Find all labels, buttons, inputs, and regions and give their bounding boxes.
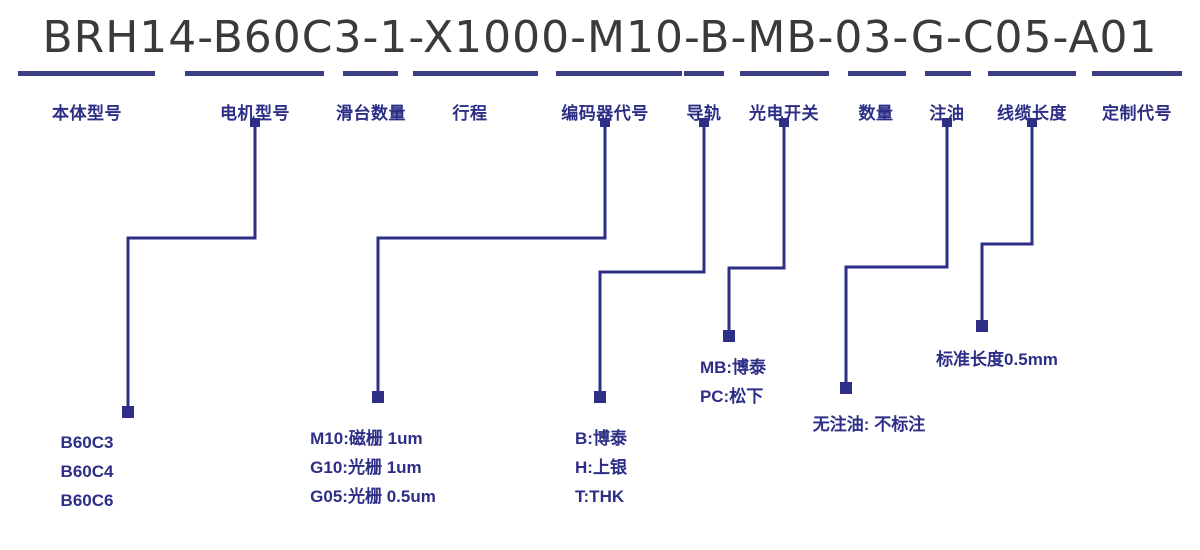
callout-line: B:博泰 xyxy=(575,424,627,453)
leader-terminal-encoder_options xyxy=(372,391,384,403)
callout-lubrication_note: 无注油: 不标注 xyxy=(813,410,925,439)
underline-body_model xyxy=(18,71,155,76)
field-label-photo_switch: 光电开关 xyxy=(749,99,819,124)
underline-motor_model xyxy=(185,71,324,76)
field-label-motor_model: 电机型号 xyxy=(220,99,290,124)
leader-terminal-cable_length_note xyxy=(976,320,988,332)
leader-terminal-photo_switch_options xyxy=(723,330,735,342)
underline-custom_code xyxy=(1092,71,1182,76)
field-label-body_model: 本体型号 xyxy=(52,99,122,124)
leader-line-encoder_options xyxy=(378,122,605,397)
callout-line: B60C6 xyxy=(61,486,114,515)
callout-line: MB:博泰 xyxy=(700,353,766,382)
leader-line-cable_length_note xyxy=(982,122,1032,326)
field-label-encoder_code: 编码器代号 xyxy=(561,99,649,124)
field-label-guide_rail: 导轨 xyxy=(687,99,722,124)
callout-line: G05:光栅 0.5um xyxy=(310,482,436,511)
callout-line: G10:光栅 1um xyxy=(310,453,436,482)
leader-terminal-lubrication_note xyxy=(840,382,852,394)
callout-photo_switch_options: MB:博泰PC:松下 xyxy=(700,353,766,411)
underline-stroke xyxy=(413,71,538,76)
leader-terminal-body_model_options xyxy=(122,406,134,418)
underline-guide_rail xyxy=(684,71,724,76)
leader-terminal-guide_rail_options xyxy=(594,391,606,403)
leader-line-photo_switch_options xyxy=(729,122,784,336)
leader-line-guide_rail_options xyxy=(600,122,704,397)
field-label-stroke: 行程 xyxy=(453,99,488,124)
field-label-custom_code: 定制代号 xyxy=(1102,99,1172,124)
callout-guide_rail_options: B:博泰H:上银T:THK xyxy=(575,424,627,511)
model-number-breakdown-diagram: BRH14-B60C3-1-X1000-M10-B-MB-03-G-C05-A0… xyxy=(0,0,1200,550)
callout-encoder_options: M10:磁栅 1umG10:光栅 1umG05:光栅 0.5um xyxy=(310,424,436,511)
underline-slide_count xyxy=(343,71,398,76)
field-label-quantity: 数量 xyxy=(859,99,894,124)
underline-quantity xyxy=(848,71,906,76)
callout-line: B60C4 xyxy=(61,457,114,486)
field-label-cable_length: 线缆长度 xyxy=(997,99,1067,124)
field-label-slide_count: 滑台数量 xyxy=(336,99,406,124)
model-code-title: BRH14-B60C3-1-X1000-M10-B-MB-03-G-C05-A0… xyxy=(0,12,1200,63)
callout-line: H:上银 xyxy=(575,453,627,482)
callout-line: B60C3 xyxy=(61,428,114,457)
callout-cable_length_note: 标准长度0.5mm xyxy=(936,345,1058,374)
underline-lubrication xyxy=(925,71,971,76)
callout-line: 标准长度0.5mm xyxy=(936,345,1058,374)
leader-line-lubrication_note xyxy=(846,122,947,388)
callout-line: M10:磁栅 1um xyxy=(310,424,436,453)
callout-line: 无注油: 不标注 xyxy=(813,410,925,439)
underline-photo_switch xyxy=(740,71,829,76)
underline-encoder_code xyxy=(556,71,682,76)
leader-line-body_model_options xyxy=(128,122,255,412)
callout-line: PC:松下 xyxy=(700,382,766,411)
underline-cable_length xyxy=(988,71,1076,76)
field-label-lubrication: 注油 xyxy=(930,99,965,124)
callout-line: T:THK xyxy=(575,482,627,511)
callout-body_model_options: B60C3B60C4B60C6 xyxy=(61,428,114,515)
